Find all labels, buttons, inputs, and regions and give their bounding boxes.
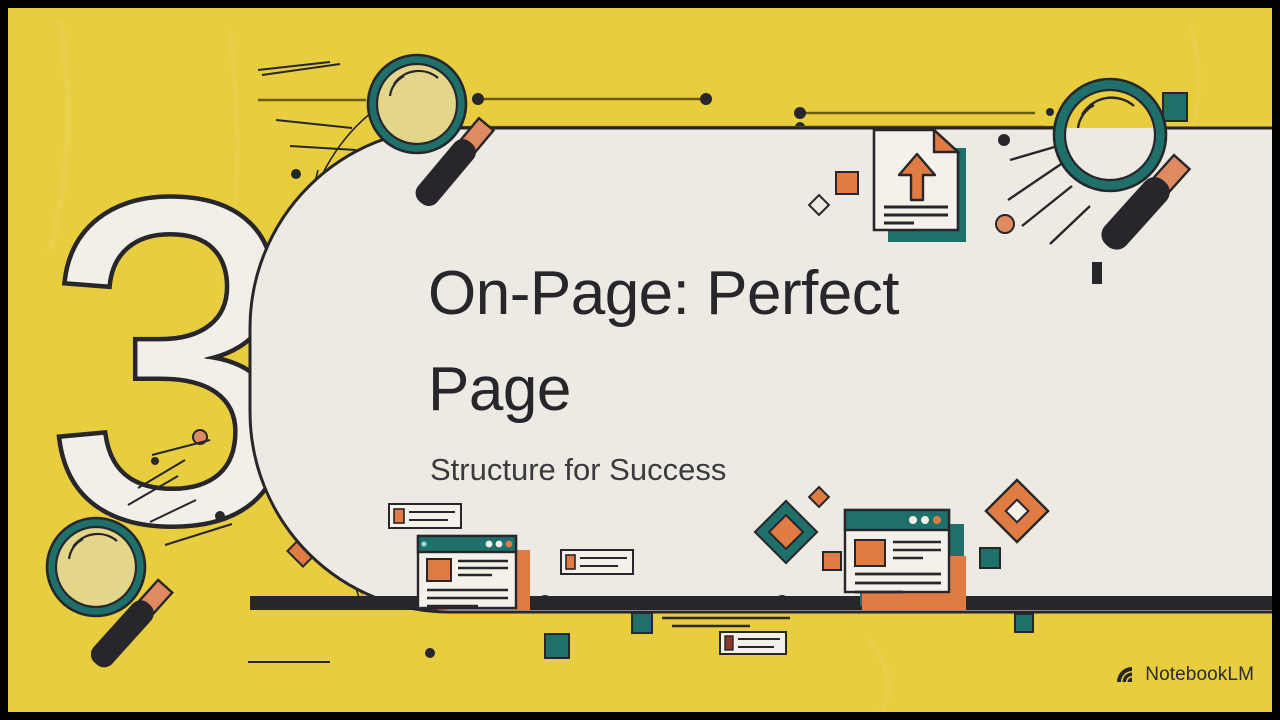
content-card-icon-mid [561,550,633,574]
brand-label: NotebookLM [1145,664,1254,686]
dot-accent [998,134,1010,146]
browser-window-icon-small [418,536,530,622]
letterbox-left [0,0,8,720]
slide-canvas: 3 [0,0,1280,720]
browser-window-icon-large [845,510,966,622]
letterbox-right [1272,0,1280,720]
page-title-line-1: On-Page: Perfect [428,259,899,328]
letterbox-bottom [0,712,1280,720]
square-icon-teal-top [1163,93,1187,121]
brand-lockup: NotebookLM [1115,664,1254,686]
content-card-icon-left [389,504,461,528]
notebooklm-spiral-icon [1115,665,1137,685]
title-block: On-Page: Perfect Page Structure for Succ… [428,246,1088,488]
page-title: On-Page: Perfect Page [428,246,1088,438]
page-subtitle: Structure for Success [430,452,1088,488]
document-upload-icon [874,130,966,242]
page-title-line-2: Page [428,355,571,424]
letterbox-top [0,0,1280,8]
